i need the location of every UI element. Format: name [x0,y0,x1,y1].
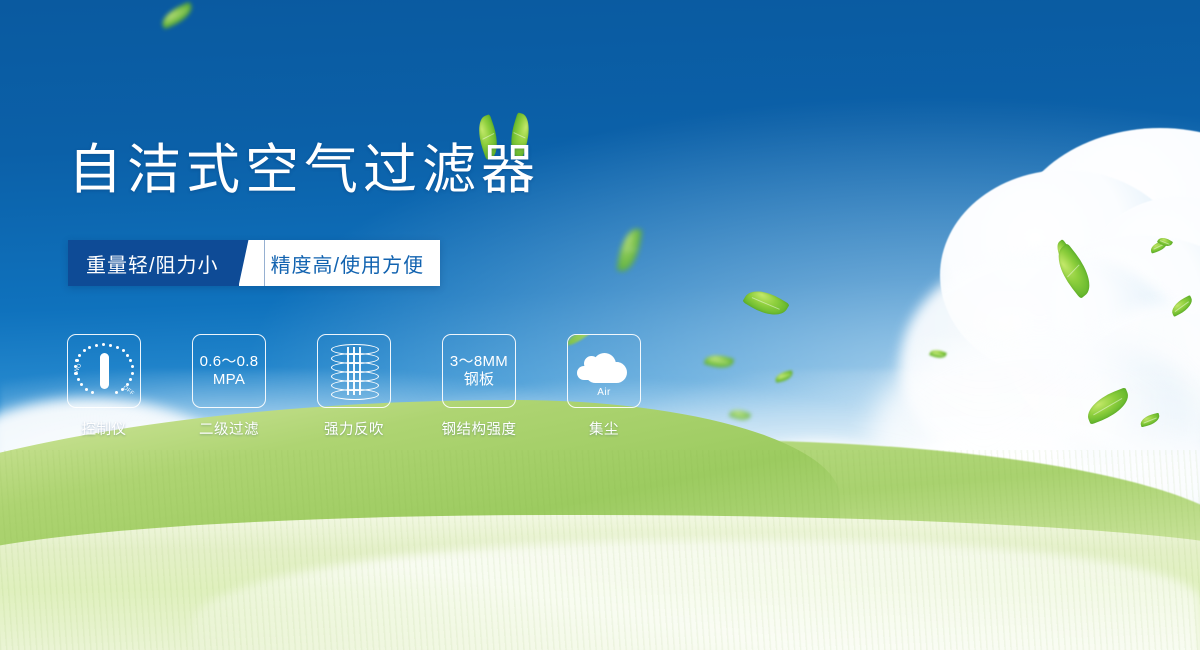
steel-line-1: 3～8MM [450,353,508,370]
pressure-text: 0.6～0.8 MPA [200,353,259,390]
feature-item-blowback[interactable]: 强力反吹 [318,334,390,439]
feature-caption: 控制仪 [82,418,127,439]
air-cloud-graphic: Air [575,346,633,396]
banner-title: 自洁式空气过滤器 [68,143,540,197]
gauge-dial-icon: NO OFF [67,334,141,408]
gauge-needle [100,353,109,389]
cloud-bump [608,362,625,379]
feature-item-dust[interactable]: Air 集尘 [568,334,640,439]
leaf [742,283,789,323]
feature-caption: 集尘 [589,418,619,439]
subtitle-divider [239,240,265,286]
feature-caption: 钢结构强度 [442,418,517,439]
feature-caption: 强力反吹 [324,418,384,439]
leaf [617,227,643,273]
steel-text: 3～8MM 钢板 [450,353,508,390]
feature-list: NO OFF 控制仪 0.6～0.8 MPA 二级过滤 [68,334,640,439]
air-cloud-icon: Air [567,334,641,408]
air-label: Air [575,387,633,398]
feature-caption: 二级过滤 [199,418,259,439]
grass-texture [0,450,1200,650]
gauge-graphic: NO OFF [75,342,133,400]
subtitle-left: 重量轻/阻力小 [68,240,239,286]
gauge-label-off: OFF [121,385,134,397]
steel-plate-text-icon: 3～8MM 钢板 [442,334,516,408]
pressure-line-2: MPA [200,371,259,389]
product-banner: 自洁式空气过滤器 重量轻/阻力小 精度高/使用方便 [0,0,1200,650]
leaf [704,351,734,371]
coil-graphic [331,344,377,398]
feature-item-steel[interactable]: 3～8MM 钢板 钢结构强度 [443,334,515,439]
leaf [158,2,195,30]
subtitle-bar: 重量轻/阻力小 精度高/使用方便 [68,240,440,286]
feature-item-control[interactable]: NO OFF 控制仪 [68,334,140,439]
subtitle-right: 精度高/使用方便 [265,240,441,286]
pressure-text-icon: 0.6～0.8 MPA [192,334,266,408]
steel-line-2: 钢板 [450,371,508,389]
coil-filter-icon [317,334,391,408]
feature-item-pressure[interactable]: 0.6～0.8 MPA 二级过滤 [193,334,265,439]
pressure-line-1: 0.6～0.8 [200,353,259,370]
